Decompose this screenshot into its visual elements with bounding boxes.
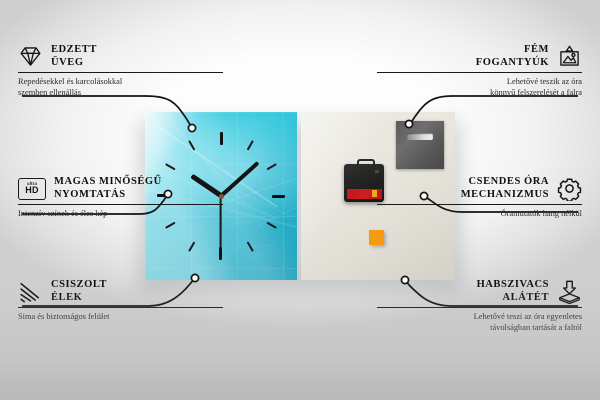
callout-description: Óramutatók hang nélkül	[377, 209, 582, 219]
gear-icon	[557, 176, 582, 201]
callout-description: Lehetővé teszik az óra könnyű felszerelé…	[377, 77, 582, 98]
callout-description: Lehetővé teszi az óra egyenletes távolsá…	[377, 312, 582, 333]
metal-hanger-plate	[396, 121, 444, 169]
callout-title: CSISZOLT ÉLEK	[51, 279, 107, 304]
foam-spacer-pad	[369, 230, 384, 245]
ultra-hd-icon: ultra HD	[18, 178, 46, 200]
callout-header: CSENDES ÓRA MECHANIZMUS	[377, 176, 582, 201]
hanging-picture-icon	[557, 44, 582, 69]
callout-polished-edges: CSISZOLT ÉLEK Sima és biztonságos felüle…	[18, 279, 223, 323]
callout-title: EDZETT ÜVEG	[51, 44, 97, 69]
callout-tempered-glass: EDZETT ÜVEG Repedésekkel és karcolásokka…	[18, 44, 223, 98]
mechanism-dial	[375, 170, 379, 173]
ultra-hd-large-text: HD	[25, 186, 39, 195]
press-pad-arrow-icon	[557, 279, 582, 304]
mechanism-handle	[357, 159, 375, 168]
callout-rule	[377, 72, 582, 73]
callout-rule	[18, 72, 223, 73]
callout-header: FÉM FOGANTYÚK	[377, 44, 582, 69]
callout-description: Intenzív színek és éles kép	[18, 209, 223, 219]
callout-title: CSENDES ÓRA MECHANIZMUS	[461, 176, 549, 201]
callout-description: Repedésekkel és karcolásokkal szemben el…	[18, 77, 223, 98]
clock-tick	[221, 195, 285, 197]
callout-title: HABSZIVACS ALÁTÉT	[477, 279, 549, 304]
callout-description: Sima és biztonságos felület	[18, 312, 223, 322]
callout-rule	[377, 307, 582, 308]
callout-rule	[18, 307, 223, 308]
polished-edges-icon	[18, 279, 43, 304]
callout-foam-pad: HABSZIVACS ALÁTÉT Lehetővé teszi az óra …	[377, 279, 582, 333]
callout-rule	[377, 204, 582, 205]
callout-rule	[18, 204, 223, 205]
callout-header: CSISZOLT ÉLEK	[18, 279, 223, 304]
callout-title: FÉM FOGANTYÚK	[476, 44, 549, 69]
diamond-icon	[18, 44, 43, 69]
callout-title: MAGAS MINŐSÉGŰ NYOMTATÁS	[54, 176, 162, 201]
callout-header: EDZETT ÜVEG	[18, 44, 223, 69]
callout-header: ultra HD MAGAS MINŐSÉGŰ NYOMTATÁS	[18, 176, 223, 201]
callout-high-quality-print: ultra HD MAGAS MINŐSÉGŰ NYOMTATÁS Intenz…	[18, 176, 223, 220]
hanger-slot	[407, 133, 433, 140]
callout-header: HABSZIVACS ALÁTÉT	[377, 279, 582, 304]
callout-silent-mechanism: CSENDES ÓRA MECHANIZMUS Óramutatók hang …	[377, 176, 582, 220]
callout-metal-handles: FÉM FOGANTYÚK Lehetővé teszik az óra kön…	[377, 44, 582, 98]
infographic-canvas: EDZETT ÜVEG Repedésekkel és karcolásokka…	[0, 0, 600, 400]
